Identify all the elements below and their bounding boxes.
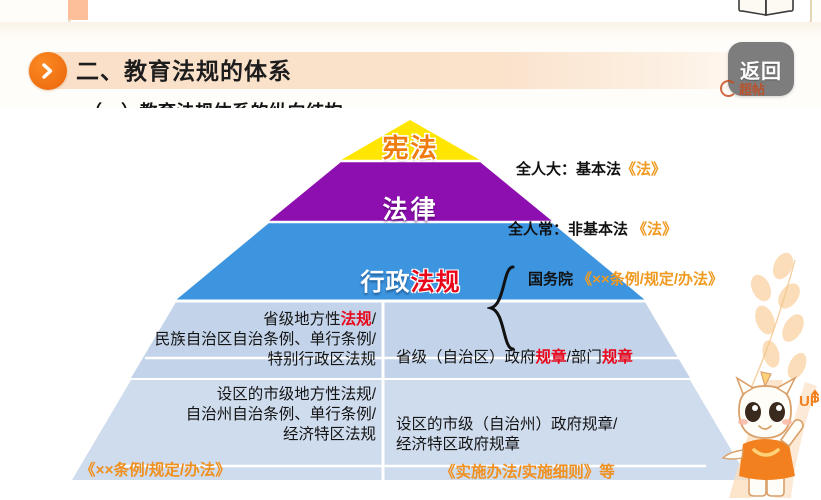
open-book-icon [737, 0, 795, 16]
tier4-r-b: /部门 [567, 349, 602, 366]
admin-label-red: 法规 [411, 269, 461, 296]
chevron-right-icon [29, 52, 67, 90]
tier4-r-hl1: 规章 [536, 349, 567, 366]
tier4-l1-b: / [372, 311, 376, 328]
tier5-right-line1: 设区的市级（自治州）政府规章/ [396, 415, 726, 435]
tier5-left-line3: 经济特区法规 [96, 425, 376, 445]
pyramid-label-law: 法律 [0, 190, 821, 226]
tier4-r-hl2: 规章 [602, 349, 633, 366]
tier4-left-line2: 民族自治区自治条例、单行条例/ [96, 330, 376, 350]
annotation-npc: 全人大：基本法《法》 [516, 158, 666, 179]
tier4-right-text: 省级（自治区）政府规章/部门规章 [396, 348, 726, 368]
annotation-npcsc-prefix: 全人常：非基本法 [508, 221, 632, 238]
annotation-npc-prefix: 全人大：基本法 [516, 161, 621, 178]
tier5-left-text: 设区的市级地方性法规/ 自治州自治条例、单行条例/ 经济特区法规 [96, 385, 376, 444]
annotation-npc-bracket: 《法》 [621, 161, 666, 178]
tier4-left-line1: 省级地方性法规/ [96, 310, 376, 330]
return-button-label: 返回 [740, 55, 782, 84]
tier5-right-text: 设区的市级（自治州）政府规章/ 经济特区政府规章 [396, 415, 726, 455]
tier4-r-a: 省级（自治区）政府 [396, 349, 536, 366]
annotation-state-council: 国务院 《××条例/规定/办法》 [528, 268, 723, 289]
pyramid-label-constitution: 宪法 [0, 128, 821, 165]
annotation-npc-standing: 全人常：非基本法 《法》 [508, 218, 677, 239]
tier5-left-line1: 设区的市级地方性法规/ [96, 385, 376, 405]
slide-canvas: 二、教育法规的体系 （一）教育法规体系的纵向结构 返回 超帖 [0, 0, 821, 500]
annotation-npcsc-bracket: 《法》 [632, 221, 677, 238]
tier4-left-line3: 特别行政区法规 [96, 350, 376, 370]
paper-wash [0, 22, 821, 42]
tier4-l1-a: 省级地方性 [263, 311, 341, 328]
footnote-right: 《实施办法/实施细则》等 [440, 460, 730, 482]
footnote-left: 《××条例/规定/办法》 [80, 458, 370, 480]
top-frame-decoration [68, 0, 812, 24]
unicorn-mascot: UP [709, 370, 819, 500]
page-title: 二、教育法规的体系 [76, 52, 292, 90]
annotation-sc-bracket: 《××条例/规定/办法》 [577, 271, 723, 288]
tier4-l1-hl: 法规 [341, 311, 372, 328]
tier5-left-line2: 自治州自治条例、单行条例/ [96, 405, 376, 425]
top-frame-tab [68, 0, 88, 20]
return-button[interactable]: 返回 [728, 42, 794, 96]
annotation-sc-prefix: 国务院 [528, 271, 577, 288]
admin-label-white: 行政 [361, 269, 411, 296]
tier4-left-text: 省级地方性法规/ 民族自治区自治条例、单行条例/ 特别行政区法规 [96, 310, 376, 369]
tier5-right-line2: 经济特区政府规章 [396, 435, 726, 455]
